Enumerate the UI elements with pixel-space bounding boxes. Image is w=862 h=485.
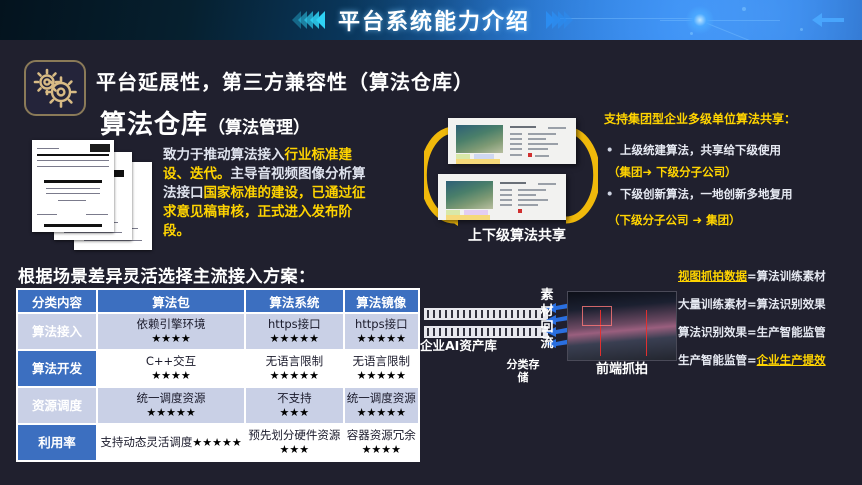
page-title: 平台系统能力介绍: [328, 4, 540, 36]
server-label: 企业AI资产库: [420, 338, 497, 353]
row-label: 算法开发: [18, 351, 96, 386]
share-bullet-1-text: 上级统建算法，共享给下级使用: [620, 143, 781, 157]
algorithm-card[interactable]: [438, 174, 566, 220]
table-row: 算法接入 依赖引擎环境★★★★ https接口★★★★★ https接口★★★★…: [18, 314, 418, 349]
rating-stars: ★★★★★: [192, 436, 241, 449]
table-cell: 预先划分硬件资源★★★: [246, 425, 343, 460]
algorithm-share-cards: [438, 118, 598, 228]
share-support-title: 支持集团型企业多级单位算法共享：: [604, 110, 796, 127]
equation-left: 算法识别效果: [678, 325, 747, 339]
rating-stars: ★★★★: [151, 332, 190, 345]
share-bullet-1: •上级统建算法，共享给下级使用: [606, 142, 781, 158]
share-bullet-2: •下级创新算法，一地创新多地复用: [606, 186, 793, 202]
equation-row: 大量训练素材=算法识别效果: [678, 296, 826, 312]
table-cell: 无语言限制★★★★★: [345, 351, 418, 386]
equation-row: 生产智能监管=企业生产提效: [678, 352, 826, 368]
table-header-row: 分类内容 算法包 算法系统 算法镜像: [18, 290, 418, 312]
table-cell: 无语言限制★★★★★: [246, 351, 343, 386]
table-cell: 支持动态灵活调度★★★★★: [98, 425, 244, 460]
section-title-group: 算法仓库（算法管理）: [100, 104, 310, 141]
table-row: 利用率 支持动态灵活调度★★★★★ 预先划分硬件资源★★★ 容器资源冗余★★★★: [18, 425, 418, 460]
section-title: 算法仓库: [100, 110, 208, 140]
bullet-icon: •: [606, 143, 620, 157]
equation-row: 算法识别效果=生产智能监管: [678, 324, 826, 340]
equation-left: 大量训练素材: [678, 297, 747, 311]
card-thumbnail: [456, 125, 503, 153]
header-banner: 平台系统能力介绍: [0, 0, 862, 40]
row-label: 利用率: [18, 425, 96, 460]
share-label: 上下级算法共享: [432, 228, 602, 245]
row-label: 算法接入: [18, 314, 96, 349]
camera-label: 前端抓拍: [562, 358, 682, 377]
server-rack-bottom: [424, 326, 548, 338]
equation-row: 视图抓拍数据=算法训练素材: [678, 268, 826, 284]
share-bullet-2-text: 下级创新算法，一地创新多地复用: [620, 187, 793, 201]
equation-right: 算法训练素材: [757, 269, 826, 283]
share-bullet-1-sub: （集团➜ 下级分子公司）: [608, 164, 737, 180]
table-cell: 不支持★★★: [246, 388, 343, 423]
banner-title-group: 平台系统能力介绍: [0, 0, 862, 40]
flow-label: 素材回流: [535, 288, 559, 352]
rating-stars: ★★★★★: [270, 369, 319, 382]
table-cell: 依赖引擎环境★★★★: [98, 314, 244, 349]
col-header-0: 分类内容: [18, 290, 96, 312]
col-header-2: 算法系统: [246, 290, 343, 312]
standards-documents-image: [32, 140, 172, 250]
col-header-1: 算法包: [98, 290, 244, 312]
equation-left: 视图抓拍数据: [678, 269, 747, 283]
chevrons-right-icon: [546, 11, 570, 29]
table-row: 算法开发 C++交互★★★★ 无语言限制★★★★★ 无语言限制★★★★★: [18, 351, 418, 386]
rating-stars: ★★★★★: [270, 332, 319, 345]
rating-stars: ★★★★★: [146, 406, 195, 419]
equation-left: 生产智能监管: [678, 353, 747, 367]
bullet-icon: •: [606, 187, 620, 201]
algorithm-card[interactable]: [448, 118, 576, 164]
rating-stars: ★★★★★: [357, 332, 406, 345]
comparison-table: 分类内容 算法包 算法系统 算法镜像 算法接入 依赖引擎环境★★★★ https…: [16, 288, 420, 462]
rating-stars: ★★★: [280, 406, 310, 419]
table-cell: https接口★★★★★: [345, 314, 418, 349]
card-thumbnail: [446, 181, 493, 209]
camera-capture-image: [568, 292, 676, 360]
description-paragraph: 致力于推动算法接入行业标准建设、迭代。主导音视频图像分析算法接口国家标准的建设，…: [163, 146, 371, 241]
document-page: [32, 140, 114, 232]
gears-icon: [24, 60, 86, 116]
rating-stars: ★★★: [280, 443, 310, 456]
table-cell: https接口★★★★★: [246, 314, 343, 349]
row-label: 资源调度: [18, 388, 96, 423]
back-arrow-icon[interactable]: [810, 11, 846, 29]
table-cell: C++交互★★★★: [98, 351, 244, 386]
table-row: 资源调度 统一调度资源★★★★★ 不支持★★★ 统一调度资源★★★★★: [18, 388, 418, 423]
equation-right: 生产智能监管: [757, 325, 826, 339]
table-cell: 统一调度资源★★★★★: [98, 388, 244, 423]
rating-stars: ★★★★★: [357, 369, 406, 382]
slide-root: 平台系统能力介绍: [0, 0, 862, 485]
table-cell: 容器资源冗余★★★★: [345, 425, 418, 460]
equation-right: 算法识别效果: [757, 297, 826, 311]
rating-stars: ★★★★: [362, 443, 401, 456]
para-seg-1: 致力于推动算法接入: [163, 147, 285, 163]
col-header-3: 算法镜像: [345, 290, 418, 312]
chevrons-left-icon: [292, 11, 322, 29]
share-bullet-2-sub: （下级分子公司 ➜ 集团）: [608, 212, 741, 228]
section-subtitle: 平台延展性，第三方兼容性（算法仓库）: [96, 66, 474, 95]
rating-stars: ★★★★★: [357, 406, 406, 419]
table-cell: 统一调度资源★★★★★: [345, 388, 418, 423]
classify-label: 分类存储: [505, 358, 541, 384]
equation-right: 企业生产提效: [757, 353, 826, 367]
table-heading: 根据场景差异灵活选择主流接入方案：: [18, 262, 316, 287]
server-rack-top: [424, 308, 548, 320]
section-title-note: （算法管理）: [208, 118, 310, 138]
rating-stars: ★★★★: [151, 369, 190, 382]
